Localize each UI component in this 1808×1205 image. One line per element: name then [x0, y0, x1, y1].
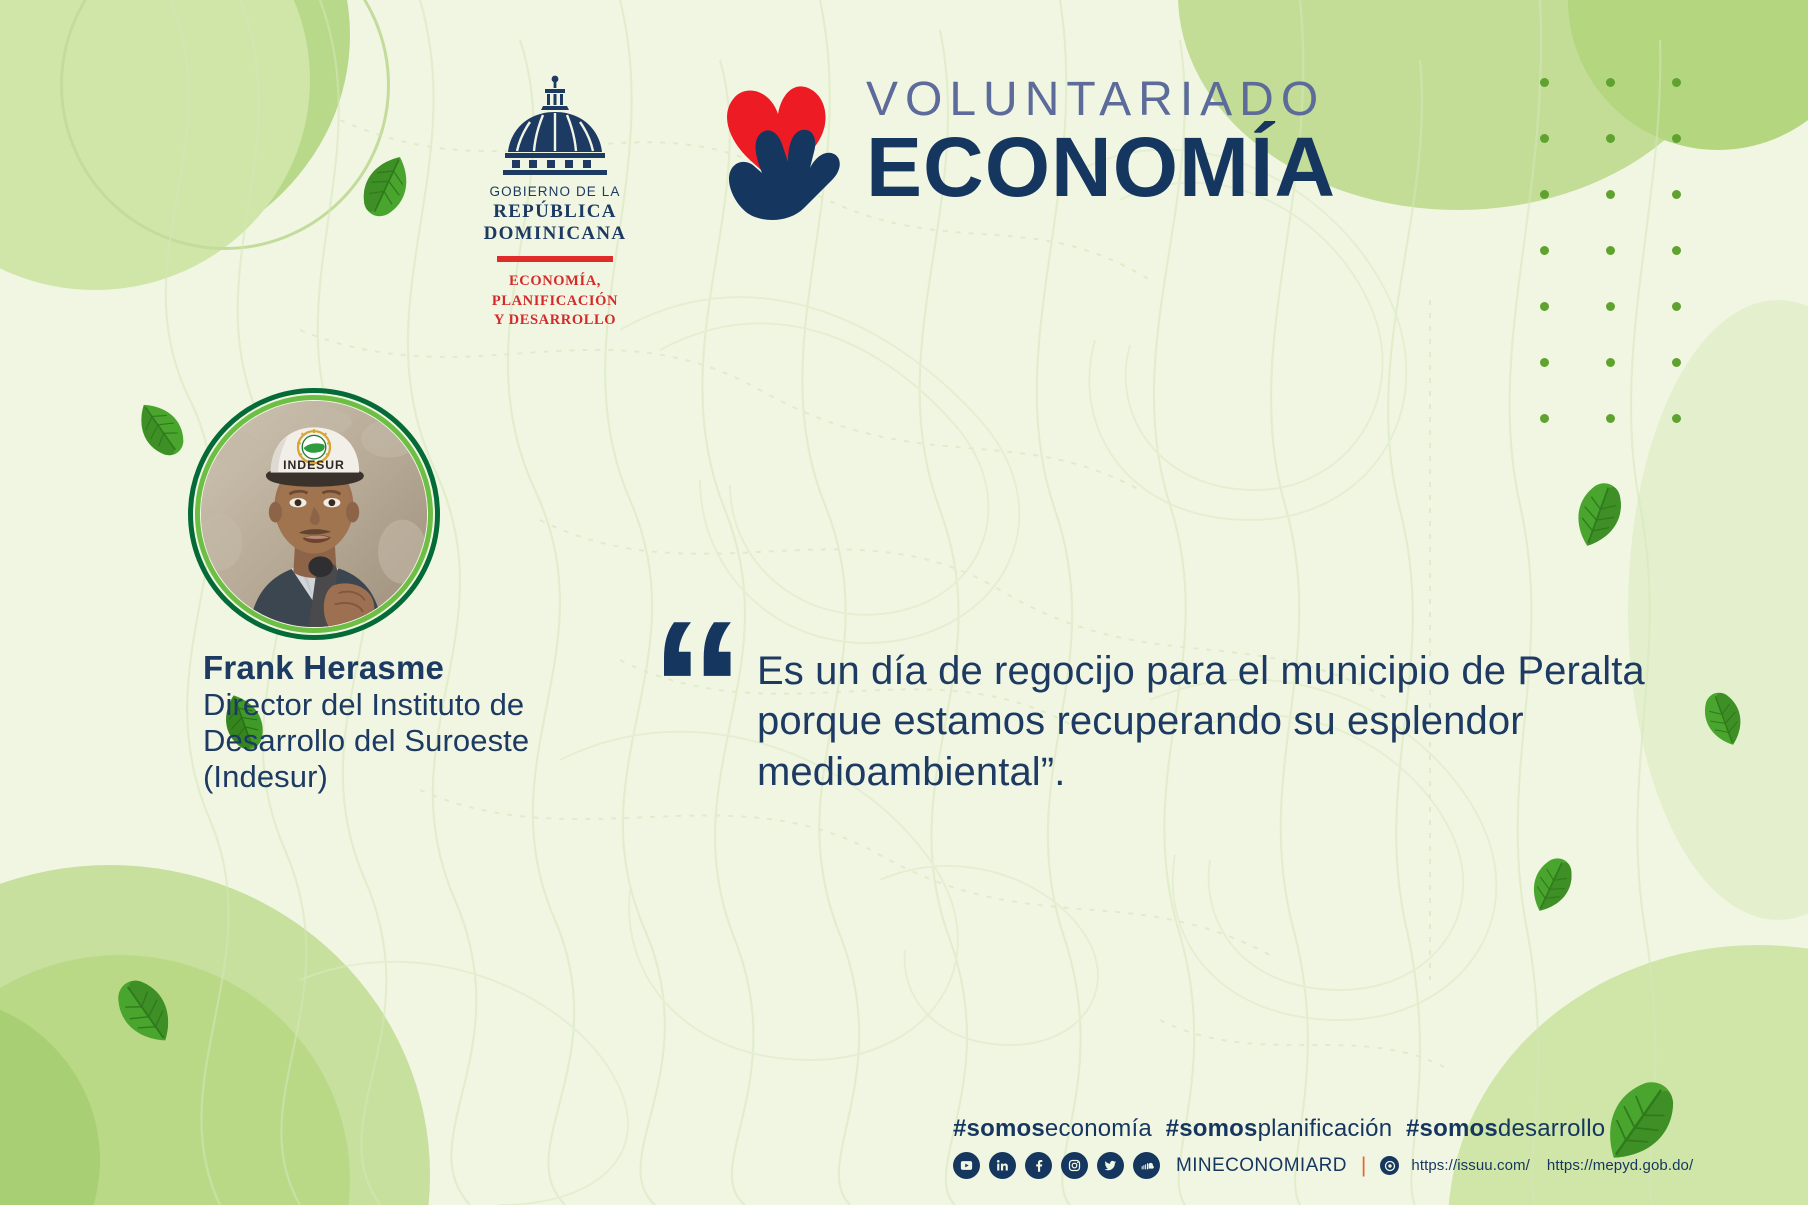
- hashtag-2-rest: planificación: [1258, 1115, 1393, 1142]
- brand-voluntariado: VOLUNTARIADO: [866, 76, 1336, 124]
- heart-hand-icon: [700, 62, 852, 214]
- quote-text: Es un día de regocijo para el municipio …: [757, 630, 1700, 797]
- twitter-icon[interactable]: [1097, 1152, 1124, 1179]
- leaf-icon: [108, 975, 184, 1051]
- quote-block: “ Es un día de regocijo para el municipi…: [650, 630, 1700, 797]
- footer-divider: |: [1361, 1154, 1366, 1178]
- facebook-icon[interactable]: [1025, 1152, 1052, 1179]
- quote-card: GOBIERNO DE LA REPÚBLICA DOMINICANA ECON…: [0, 0, 1808, 1205]
- hashtag-3-tag: #somos: [1406, 1115, 1498, 1142]
- youtube-icon[interactable]: [953, 1152, 980, 1179]
- hashtags: #somoseconomía #somosplanificación #somo…: [953, 1115, 1605, 1143]
- speaker-name: Frank Herasme: [203, 650, 633, 687]
- hashtag-2-tag: #somos: [1166, 1115, 1258, 1142]
- social-handle: MINECONOMIARD: [1176, 1155, 1347, 1177]
- gov-ministry-line-2: Y DESARROLLO: [455, 311, 655, 331]
- footer-links: MINECONOMIARD | https://issuu.com/ https…: [953, 1152, 1693, 1179]
- dome-icon: [496, 72, 614, 178]
- quote-mark-icon: “: [650, 630, 739, 797]
- hashtag-1-rest: economía: [1045, 1115, 1152, 1142]
- svg-text:INDESUR: INDESUR: [283, 458, 345, 472]
- gov-ministry-line-1: ECONOMÍA, PLANIFICACIÓN: [455, 272, 655, 311]
- leaf-icon: [1694, 690, 1754, 750]
- instagram-icon[interactable]: [1061, 1152, 1088, 1179]
- avatar: INDESUR: [188, 388, 440, 640]
- gov-line-1: GOBIERNO DE LA: [455, 184, 655, 199]
- portrait-photo: INDESUR: [201, 401, 427, 627]
- government-logo: GOBIERNO DE LA REPÚBLICA DOMINICANA ECON…: [455, 72, 655, 331]
- leaf-icon: [128, 396, 192, 460]
- voluntariado-brand: VOLUNTARIADO ECONOMÍA: [700, 62, 1336, 214]
- gov-line-2: REPÚBLICA DOMINICANA: [455, 201, 655, 245]
- leaf-icon: [1520, 855, 1582, 917]
- gov-divider: [497, 256, 613, 262]
- speaker-role-line-3: (Indesur): [203, 759, 633, 795]
- issuu-url[interactable]: https://issuu.com/: [1411, 1157, 1530, 1174]
- speaker-role-line-2: Desarrollo del Suroeste: [203, 723, 633, 759]
- website-url[interactable]: https://mepyd.gob.do/: [1547, 1157, 1693, 1174]
- speaker-role-line-1: Director del Instituto de: [203, 687, 633, 723]
- leaf-icon: [1562, 480, 1634, 552]
- issuu-icon[interactable]: [1380, 1156, 1399, 1175]
- hashtag-3-rest: desarrollo: [1498, 1115, 1605, 1142]
- leaf-icon: [352, 150, 422, 220]
- brand-economia: ECONOMÍA: [866, 128, 1336, 208]
- soundcloud-icon[interactable]: [1133, 1152, 1160, 1179]
- linkedin-icon[interactable]: [989, 1152, 1016, 1179]
- hashtag-1-tag: #somos: [953, 1115, 1045, 1142]
- speaker-info: Frank Herasme Director del Instituto de …: [203, 650, 633, 795]
